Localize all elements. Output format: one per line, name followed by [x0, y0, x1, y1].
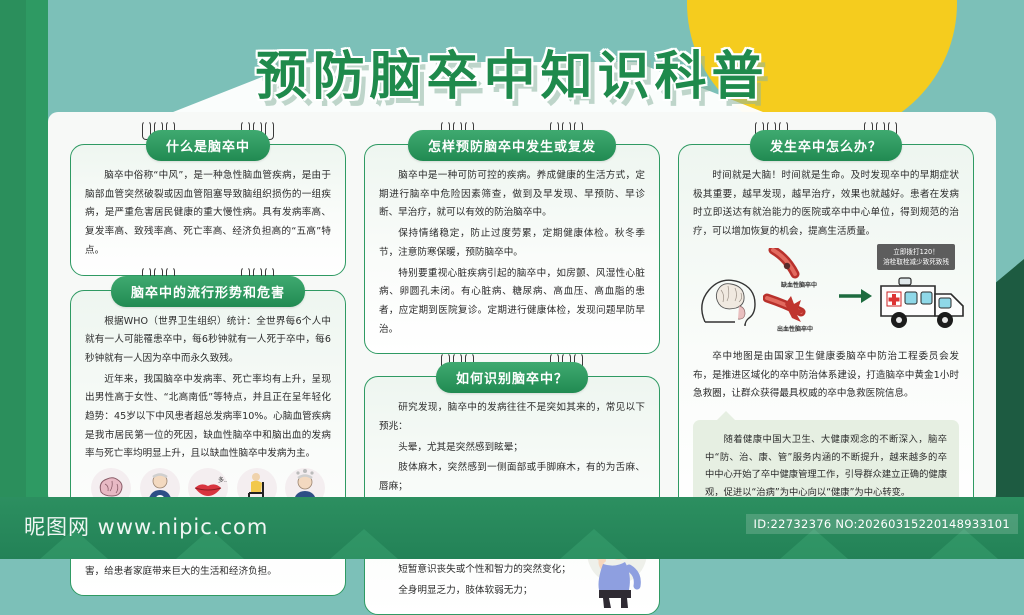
hemorrhagic-label: 出血性脑卒中	[777, 324, 813, 333]
call-120-line2: 溶栓取栓减少致死致残	[883, 257, 949, 267]
hemorrhagic-vessel-icon	[763, 292, 835, 328]
content-board: 什么是脑卒中 脑卒中俗称“中风”，是一种急性脑血管疾病，是由于脑部血管突然破裂或…	[48, 112, 996, 504]
svg-text:多..: 多..	[218, 476, 228, 484]
ischemic-label: 缺血性脑卒中	[781, 280, 817, 289]
card-heading: 如何识别脑卒中？	[436, 362, 588, 393]
site-watermark: 昵图网 www.nipic.com	[24, 511, 268, 541]
card-heading: 怎样预防脑卒中发生或复发	[408, 130, 616, 161]
stroke-emergency-illustration: 缺血性脑卒中 出血性脑卒中	[693, 248, 959, 340]
paragraph: 特别要重视心脏疾病引起的脑卒中，如房颤、风湿性心脏病、卵圆孔未闭。有心脏病、糖尿…	[379, 265, 645, 340]
ambulance-icon	[875, 274, 971, 336]
paragraph: 肢体麻木，突然感到一侧面部或手脚麻木，有的为舌麻、唇麻；	[379, 459, 645, 496]
card-how-to-prevent: 怎样预防脑卒中发生或复发 脑卒中是一种可防可控的疾病。养成健康的生活方式，定期进…	[364, 144, 660, 354]
arrow-right-icon	[839, 288, 873, 304]
card-how-to-recognize: 如何识别脑卒中？ 研究发现，脑	[364, 376, 660, 615]
paragraph: 脑卒中俗称“中风”，是一种急性脑血管疾病，是由于脑部血管突然破裂或因血管阻塞导致…	[85, 167, 331, 261]
card-what-to-do: 发生卒中怎么办？ 时间就是大脑！时间就是生命。及时发现卒中的早期症状极其重要，越…	[678, 144, 974, 529]
card-heading: 发生卒中怎么办？	[750, 130, 902, 161]
call-120-line1: 立即拨打120！	[883, 247, 949, 257]
card-what-is-stroke: 什么是脑卒中 脑卒中俗称“中风”，是一种急性脑血管疾病，是由于脑部血管突然破裂或…	[70, 144, 346, 276]
ischemic-vessel-icon	[767, 248, 829, 282]
column-right: 发生卒中怎么办？ 时间就是大脑！时间就是生命。及时发现卒中的早期症状极其重要，越…	[668, 112, 996, 504]
footer-triangle	[330, 529, 398, 559]
column-middle: 怎样预防脑卒中发生或复发 脑卒中是一种可防可控的疾病。养成健康的生活方式，定期进…	[356, 112, 668, 504]
image-id-tag: ID:22732376 NO:20260315220148933101	[746, 514, 1018, 534]
paragraph: 根据WHO（世界卫生组织）统计：全世界每6个人中就有一人可能罹患卒中，每6秒钟就…	[85, 313, 331, 369]
paragraph: 脑卒中是一种可防可控的疾病。养成健康的生活方式，定期进行脑卒中危险因素筛查，做到…	[379, 167, 645, 223]
card-heading: 脑卒中的流行形势和危害	[111, 276, 305, 307]
call-120-box: 立即拨打120！ 溶栓取栓减少致死致残	[877, 244, 955, 270]
paragraph: 研究发现，脑卒中的发病往往不是突如其来的，常见以下预兆：	[379, 399, 645, 436]
head-brain-icon	[695, 266, 767, 328]
paragraph: 近年来，我国脑卒中发病率、死亡率均有上升，呈现出男性高于女性、“北高南低”等特点…	[85, 371, 331, 465]
paragraph: 卒中地图是由国家卫生健康委脑卒中防治工程委员会发布，是推进区域化的卒中防治体系建…	[693, 348, 959, 404]
column-left: 什么是脑卒中 脑卒中俗称“中风”，是一种急性脑血管疾病，是由于脑部血管突然破裂或…	[48, 112, 356, 504]
paragraph: 时间就是大脑！时间就是生命。及时发现卒中的早期症状极其重要，越早发现，越早治疗，…	[693, 167, 959, 242]
paragraph: 头晕，尤其是突然感到眩晕；	[379, 439, 645, 458]
paragraph: 随着健康中国大卫生、大健康观念的不断深入，脑卒中“防、治、康、管”服务内涵的不断…	[705, 431, 947, 502]
page-title: 预防脑卒中知识科普	[0, 34, 1024, 109]
footer-bar: 昵图网 www.nipic.com ID:22732376 NO:2026031…	[0, 497, 1024, 559]
footer-triangle	[560, 529, 628, 559]
paragraph: 保持情绪稳定，防止过度劳累，定期健康体检。秋冬季节，注意防寒保暖，预防脑卒中。	[379, 225, 645, 262]
card-heading: 什么是脑卒中	[146, 130, 270, 161]
